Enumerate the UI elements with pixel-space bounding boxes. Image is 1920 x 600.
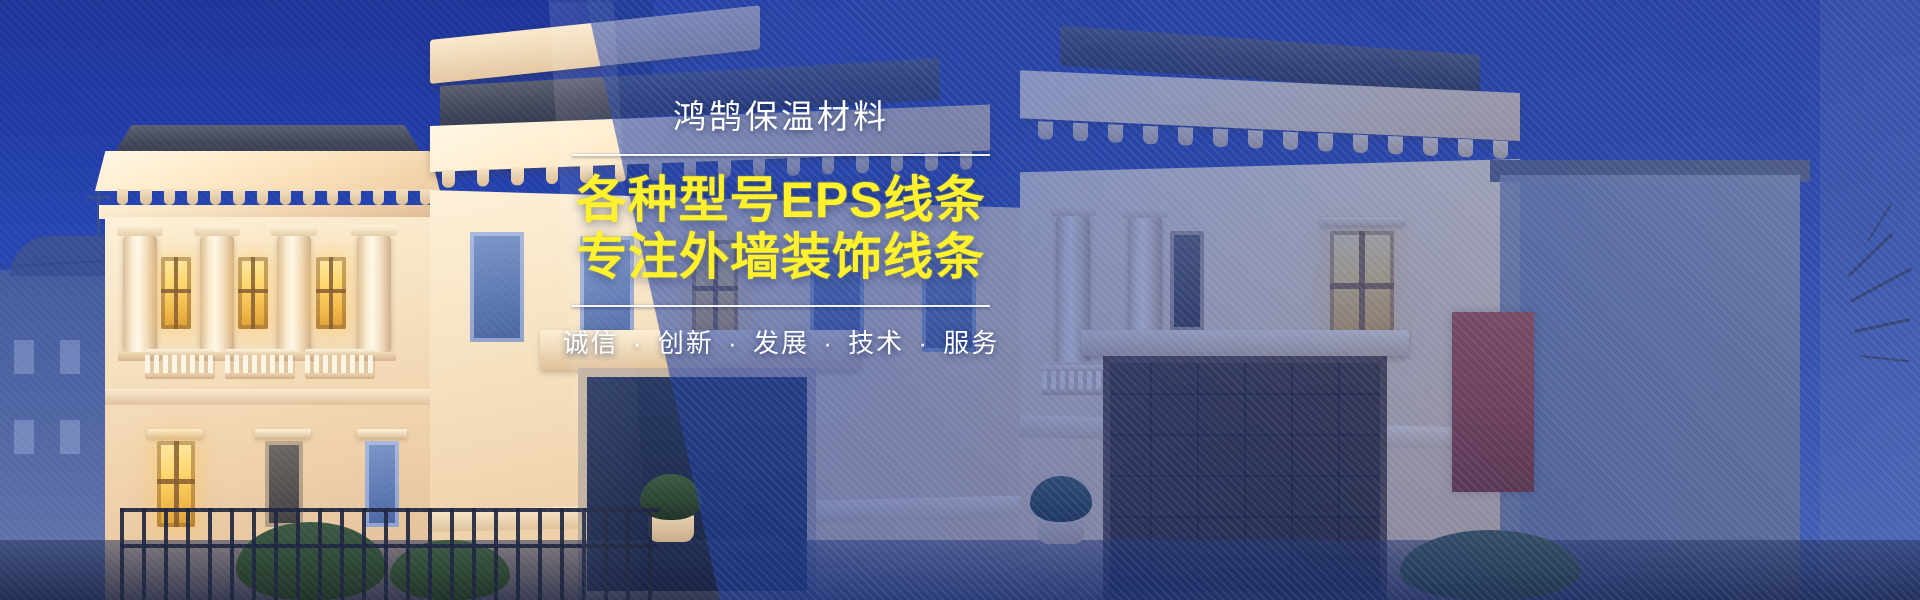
tagline-separator: · — [628, 328, 649, 358]
tagline-item-1: 诚信 — [563, 328, 619, 358]
headline-line-1: 各种型号EPS线条 — [556, 172, 1006, 229]
window-hood — [147, 429, 203, 438]
headline-line-2: 专注外墙装饰线条 — [556, 229, 1006, 286]
tagline-item-2: 创新 — [658, 328, 714, 358]
company-name: 鸿鹄保温材料 — [556, 96, 1006, 137]
lit-window — [316, 257, 346, 329]
tagline-item-5: 服务 — [943, 328, 999, 358]
tagline-separator: · — [818, 328, 839, 358]
window-hood — [255, 429, 311, 438]
tagline-item-4: 技术 — [848, 328, 904, 358]
blue-window — [470, 232, 524, 342]
string-course — [105, 389, 430, 405]
window-hood — [357, 429, 407, 438]
promo-banner: 鸿鹄保温材料 各种型号EPS线条 专注外墙装饰线条 诚信 · 创新 · 发展 ·… — [0, 0, 1920, 600]
lit-window — [161, 257, 191, 329]
tagline-separator: · — [913, 328, 934, 358]
column — [277, 235, 311, 353]
left-wing-cornice — [95, 151, 440, 191]
column — [123, 235, 157, 353]
left-wing-roof — [113, 125, 423, 155]
left-wing-dentils — [103, 189, 431, 205]
balustrade — [305, 349, 375, 379]
tagline-item-3: 发展 — [753, 328, 809, 358]
divider-top — [572, 154, 990, 156]
tagline: 诚信 · 创新 · 发展 · 技术 · 服务 — [556, 323, 1006, 360]
balustrade — [145, 349, 215, 379]
iron-fence-rail — [120, 544, 660, 548]
column — [200, 235, 234, 353]
lit-window — [238, 257, 268, 329]
divider-bottom — [572, 305, 990, 307]
iron-fence — [120, 508, 660, 600]
banner-text-block: 鸿鹄保温材料 各种型号EPS线条 专注外墙装饰线条 诚信 · 创新 · 发展 ·… — [556, 96, 1006, 360]
headline: 各种型号EPS线条 专注外墙装饰线条 — [556, 172, 1006, 286]
tagline-separator: · — [723, 328, 744, 358]
balustrade — [225, 349, 295, 379]
column — [357, 235, 391, 353]
